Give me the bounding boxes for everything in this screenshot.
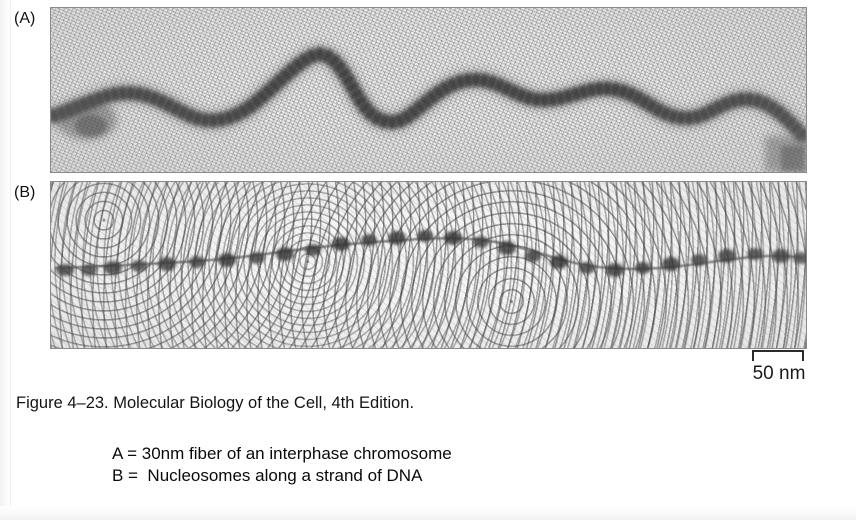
legend-line-a: A = 30nm fiber of an interphase chromoso… — [112, 444, 452, 464]
scale-bracket-icon — [752, 350, 804, 361]
legend-line-b: B = Nucleosomes along a strand of DNA — [112, 466, 422, 486]
figure-container: (A) (B) — [0, 0, 856, 520]
panel-label-b: (B) — [14, 184, 35, 202]
scale-bar-label: 50 nm — [731, 363, 827, 385]
chromatin-fiber-30nm-icon — [51, 8, 806, 172]
micrograph-panel-a — [50, 7, 807, 173]
micrograph-panel-b — [50, 181, 807, 349]
page-bottom-band — [0, 506, 856, 520]
nucleosome-beads-on-string-icon — [51, 182, 806, 348]
scale-bar — [752, 350, 804, 361]
figure-caption: Figure 4–23. Molecular Biology of the Ce… — [16, 394, 414, 413]
panel-label-a: (A) — [14, 10, 35, 28]
